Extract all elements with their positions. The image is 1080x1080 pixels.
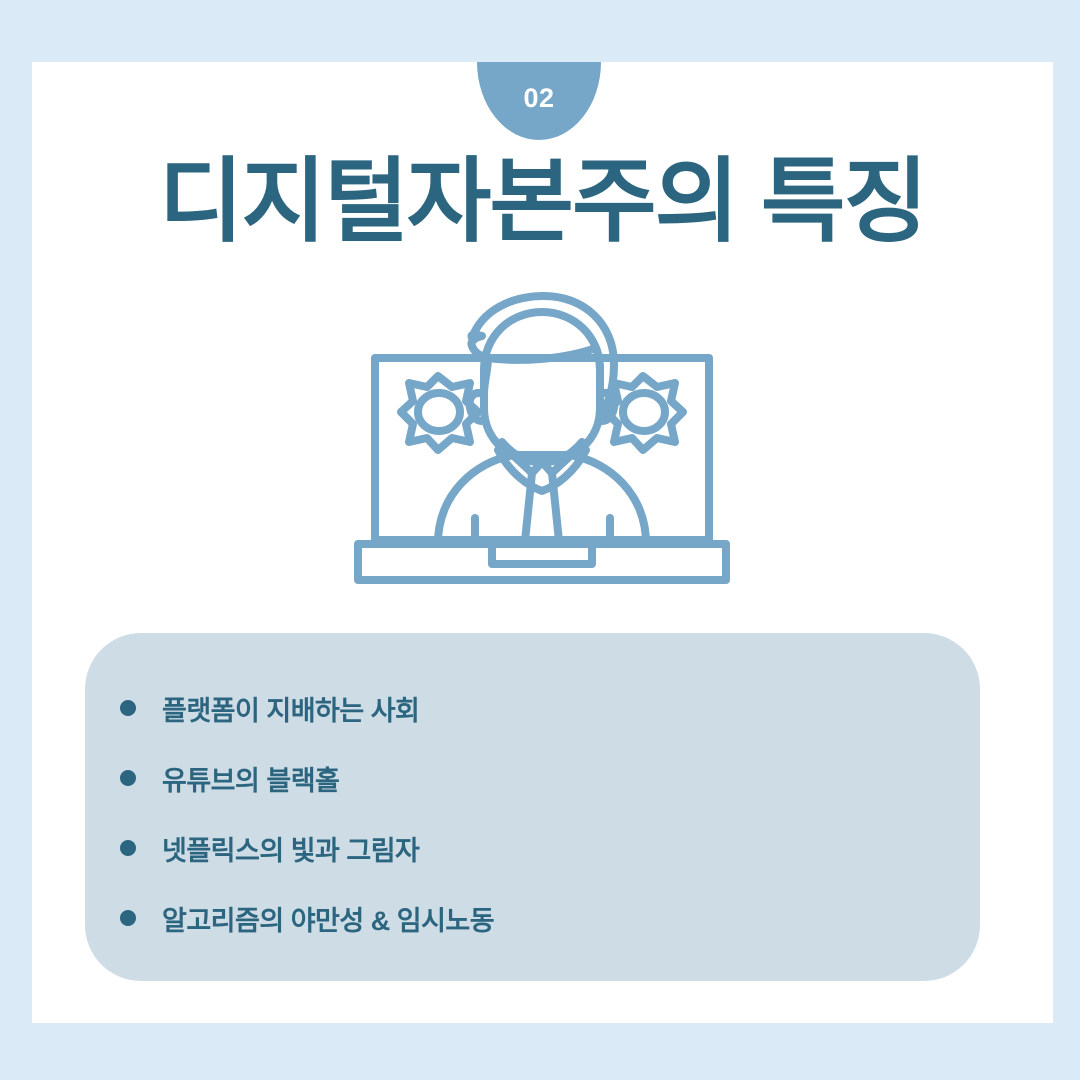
illustration-businessman-laptop-gears: [342, 290, 742, 600]
slide-root: 02 디지털자본주의 특징: [0, 0, 1080, 1080]
gear-right-icon: [606, 376, 683, 450]
list-item[interactable]: 유튜브의 블랙홀: [120, 743, 980, 813]
list-item-label: 넷플릭스의 빛과 그림자: [162, 829, 419, 868]
bullet-dot-icon: [120, 840, 136, 856]
section-number-badge: 02: [477, 62, 601, 140]
bullet-dot-icon: [120, 700, 136, 716]
list-item-label: 알고리즘의 야만성 & 임시노동: [162, 899, 494, 938]
list-item[interactable]: 알고리즘의 야만성 & 임시노동: [120, 883, 980, 953]
list-item[interactable]: 넷플릭스의 빛과 그림자: [120, 813, 980, 883]
content-card: 02 디지털자본주의 특징: [32, 62, 1053, 1023]
bullet-dot-icon: [120, 770, 136, 786]
page-title: 디지털자본주의 특징: [32, 152, 1053, 253]
laptop-base-icon: [358, 544, 726, 580]
list-item-label: 유튜브의 블랙홀: [162, 759, 339, 798]
bullet-dot-icon: [120, 910, 136, 926]
list-item-label: 플랫폼이 지배하는 사회: [162, 689, 419, 728]
section-number-label: 02: [523, 85, 554, 118]
feature-list-panel: 플랫폼이 지배하는 사회 유튜브의 블랙홀 넷플릭스의 빛과 그림자 알고리즘의…: [85, 633, 980, 981]
person-head-icon: [470, 312, 615, 462]
person-suit-icon: [438, 455, 646, 543]
gear-left-icon: [401, 376, 478, 450]
list-item[interactable]: 플랫폼이 지배하는 사회: [120, 673, 980, 743]
